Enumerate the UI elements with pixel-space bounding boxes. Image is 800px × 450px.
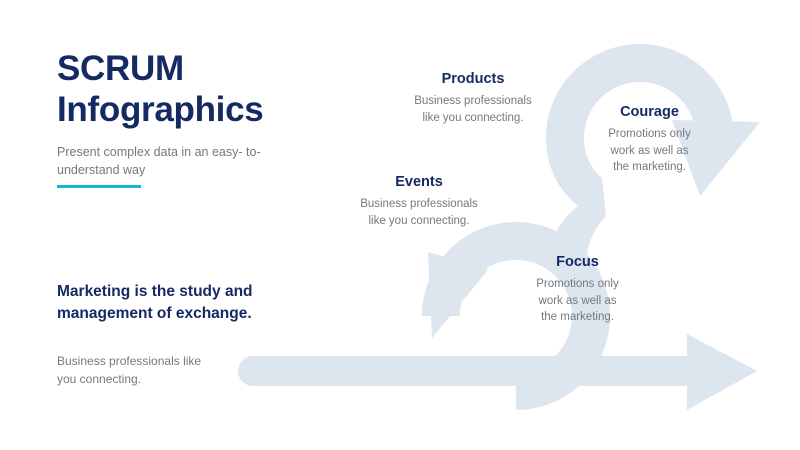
right-arrowhead xyxy=(687,334,757,410)
page-subtitle: Present complex data in an easy- to-unde… xyxy=(57,143,267,179)
statement-heading-line-1: Marketing is the study and xyxy=(57,281,347,303)
step-products-body-line-2: like you connecting. xyxy=(387,110,559,126)
step-courage-body-line-2: work as well as xyxy=(577,143,722,159)
page-title: SCRUM Infographics xyxy=(57,48,357,131)
step-events-title: Events xyxy=(333,174,505,191)
statement-heading-line-2: management of exchange. xyxy=(57,303,347,325)
title-block: SCRUM Infographics Present complex data … xyxy=(57,48,357,179)
statement-body-line-2: you connecting. xyxy=(57,370,307,388)
step-events-body: Business professionals like you connecti… xyxy=(333,196,505,229)
step-focus-body-line-1: Promotions only xyxy=(505,276,650,292)
accent-rule xyxy=(57,185,141,188)
statement-body-text: Business professionals like you connecti… xyxy=(57,352,307,388)
step-focus-title: Focus xyxy=(505,254,650,271)
step-courage-body: Promotions only work as well as the mark… xyxy=(577,126,722,175)
step-courage-body-line-1: Promotions only xyxy=(577,126,722,142)
step-products-title: Products xyxy=(387,71,559,88)
step-products: Products Business professionals like you… xyxy=(387,71,559,126)
step-focus-body: Promotions only work as well as the mark… xyxy=(505,276,650,325)
step-focus: Focus Promotions only work as well as th… xyxy=(505,254,650,326)
page-subtitle-line-1: Present complex data in an easy- xyxy=(57,145,243,159)
statement-heading: Marketing is the study and management of… xyxy=(57,281,347,325)
page-title-line-1: SCRUM xyxy=(57,48,357,89)
step-products-body: Business professionals like you connecti… xyxy=(387,93,559,126)
page-title-line-2: Infographics xyxy=(57,89,357,130)
step-products-body-line-1: Business professionals xyxy=(387,93,559,109)
slide-canvas: SCRUM Infographics Present complex data … xyxy=(0,0,800,450)
step-events: Events Business professionals like you c… xyxy=(333,174,505,229)
statement-body-line-1: Business professionals like xyxy=(57,352,307,370)
step-focus-body-line-3: the marketing. xyxy=(505,309,650,325)
step-events-body-line-2: like you connecting. xyxy=(333,213,505,229)
step-courage: Courage Promotions only work as well as … xyxy=(577,104,722,176)
statement-block: Marketing is the study and management of… xyxy=(57,281,347,325)
statement-body: Business professionals like you connecti… xyxy=(57,352,307,388)
step-courage-body-line-3: the marketing. xyxy=(577,159,722,175)
step-focus-body-line-2: work as well as xyxy=(505,293,650,309)
step-events-body-line-1: Business professionals xyxy=(333,196,505,212)
step-courage-title: Courage xyxy=(577,104,722,121)
